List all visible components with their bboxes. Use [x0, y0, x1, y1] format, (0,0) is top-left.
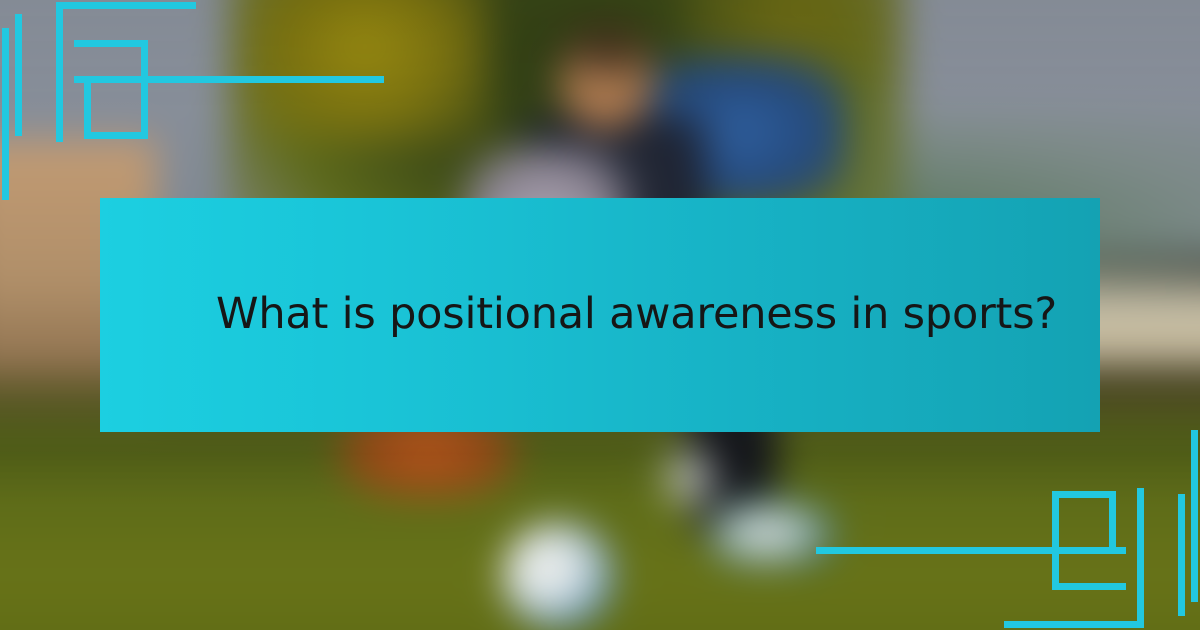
page-title: What is positional awareness in sports? [216, 290, 1057, 339]
photo-tree-gold-foliage [241, 0, 490, 146]
photo-player-sock [655, 438, 724, 515]
photo-player-cleat [711, 499, 835, 568]
photo-player-hair [552, 8, 663, 77]
social-card: What is positional awareness in sports? [0, 0, 1200, 630]
title-banner: What is positional awareness in sports? [100, 198, 1100, 432]
photo-soccer-ball [503, 522, 614, 629]
